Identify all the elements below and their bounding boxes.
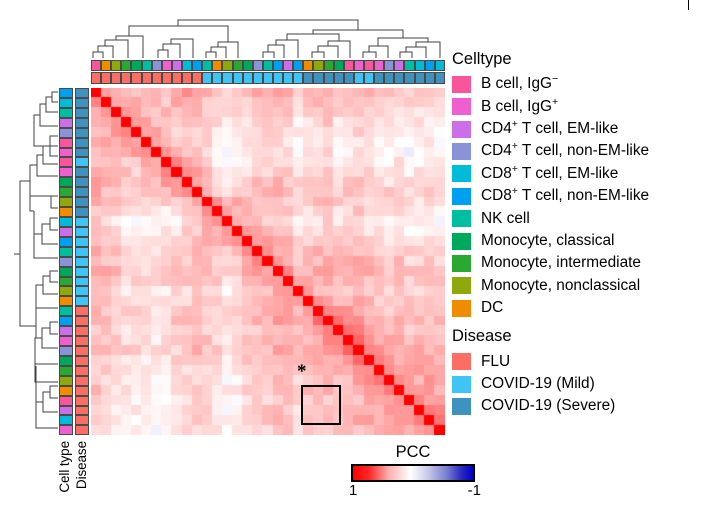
- annotation-cell: [303, 60, 313, 71]
- row-axis-title: Cell type: [57, 441, 72, 493]
- row-dendrogram: [10, 86, 58, 436]
- annotation-cell: [131, 72, 141, 84]
- annotation-cell: [75, 167, 89, 177]
- annotation-cell: [172, 60, 182, 71]
- annotation-cell: [202, 72, 212, 84]
- legend-item-celltype[interactable]: Monocyte, nonclassical: [452, 275, 702, 297]
- legend-swatch-icon: [452, 300, 471, 317]
- legend-swatch-icon: [452, 277, 471, 294]
- annotation-cell: [293, 60, 303, 71]
- legend-item-label: COVID-19 (Mild): [481, 376, 595, 392]
- row-annotation-celltype: [59, 88, 73, 435]
- annotation-cell: [59, 415, 73, 425]
- annotation-cell: [243, 72, 253, 84]
- legend-item-label: CD8+ T cell, non-EM-like: [481, 188, 649, 204]
- annotation-cell: [75, 138, 89, 148]
- legend-swatch-icon: [452, 165, 471, 182]
- legend-item-celltype[interactable]: CD4+ T cell, EM-like: [452, 118, 702, 140]
- annotation-cell: [263, 72, 273, 84]
- annotation-cell: [303, 72, 313, 84]
- annotation-cell: [324, 72, 334, 84]
- annotation-cell: [75, 98, 89, 108]
- annotation-cell: [59, 425, 73, 435]
- legend-swatch-icon: [452, 210, 471, 227]
- annotation-cell: [75, 227, 89, 237]
- annotation-cell: [91, 60, 101, 71]
- annotation-cell: [101, 60, 111, 71]
- annotation-cell: [59, 296, 73, 306]
- annotation-cell: [162, 60, 172, 71]
- annotation-cell: [59, 108, 73, 118]
- annotation-cell: [59, 396, 73, 406]
- legend-disease-title: Disease: [452, 327, 702, 345]
- annotation-cell: [425, 72, 435, 84]
- column-annotation-disease: [91, 72, 445, 84]
- annotation-cell: [75, 376, 89, 386]
- annotation-cell: [75, 197, 89, 207]
- legend-item-celltype[interactable]: CD4+ T cell, non-EM-like: [452, 140, 702, 162]
- legend-swatch-icon: [452, 188, 471, 205]
- annotation-cell: [152, 72, 162, 84]
- legend-item-label: COVID-19 (Severe): [481, 398, 615, 414]
- legend-item-label: DC: [481, 300, 503, 316]
- legend-swatch-icon: [452, 76, 471, 93]
- annotation-cell: [59, 207, 73, 217]
- annotation-cell: [101, 72, 111, 84]
- highlight-box: [301, 385, 341, 425]
- annotation-cell: [222, 60, 232, 71]
- annotation-cell: [344, 60, 354, 71]
- annotation-cell: [75, 88, 89, 98]
- annotation-cell: [172, 72, 182, 84]
- annotation-cell: [75, 177, 89, 187]
- legend-item-label: NK cell: [481, 211, 530, 227]
- pcc-title: PCC: [353, 443, 473, 462]
- column-dendrogram: [88, 12, 448, 58]
- annotation-cell: [75, 425, 89, 435]
- annotation-cell: [415, 60, 425, 71]
- annotation-cell: [253, 60, 263, 71]
- row-annotation-disease: [75, 88, 89, 435]
- legend-swatch-icon: [452, 143, 471, 160]
- annotation-cell: [131, 60, 141, 71]
- annotation-cell: [394, 60, 404, 71]
- annotation-cell: [59, 286, 73, 296]
- annotation-cell: [192, 60, 202, 71]
- annotation-cell: [75, 257, 89, 267]
- annotation-cell: [75, 247, 89, 257]
- annotation-cell: [253, 72, 263, 84]
- annotation-cell: [384, 60, 394, 71]
- pcc-ticks: 1 -1: [347, 482, 483, 499]
- annotation-cell: [59, 217, 73, 227]
- annotation-cell: [404, 60, 414, 71]
- annotation-cell: [142, 60, 152, 71]
- annotation-cell: [75, 396, 89, 406]
- legend-item-label: Monocyte, intermediate: [481, 255, 641, 271]
- annotation-cell: [182, 72, 192, 84]
- annotation-cell: [283, 72, 293, 84]
- legend-item-celltype[interactable]: B cell, IgG+: [452, 96, 702, 118]
- annotation-cell: [344, 72, 354, 84]
- correlation-heatmap: [91, 88, 445, 435]
- annotation-cell: [59, 138, 73, 148]
- annotation-cell: [283, 60, 293, 71]
- annotation-cell: [75, 108, 89, 118]
- annotation-cell: [212, 72, 222, 84]
- annotation-cell: [324, 60, 334, 71]
- annotation-cell: [75, 406, 89, 416]
- legend-item-celltype[interactable]: CD8+ T cell, non-EM-like: [452, 185, 702, 207]
- annotation-cell: [142, 72, 152, 84]
- pcc-colorbar: [351, 464, 475, 482]
- legend-swatch-icon: [452, 353, 471, 370]
- annotation-cell: [75, 356, 89, 366]
- annotation-cell: [263, 60, 273, 71]
- legend-celltype-items: B cell, IgG−B cell, IgG+CD4+ T cell, EM-…: [452, 73, 702, 319]
- annotation-cell: [59, 148, 73, 158]
- annotation-cell: [415, 72, 425, 84]
- annotation-cell: [75, 187, 89, 197]
- annotation-cell: [59, 366, 73, 376]
- annotation-cell: [233, 60, 243, 71]
- annotation-cell: [364, 72, 374, 84]
- annotation-cell: [75, 296, 89, 306]
- annotation-cell: [59, 356, 73, 366]
- annotation-cell: [75, 277, 89, 287]
- annotation-cell: [75, 386, 89, 396]
- legend-disease-items: FLUCOVID-19 (Mild)COVID-19 (Severe): [452, 351, 702, 418]
- annotation-cell: [59, 118, 73, 128]
- annotation-cell: [202, 60, 212, 71]
- annotation-cell: [59, 88, 73, 98]
- annotation-cell: [111, 72, 121, 84]
- legend-item-celltype[interactable]: B cell, IgG−: [452, 73, 702, 95]
- annotation-cell: [75, 148, 89, 158]
- asterisk-marker: *: [297, 362, 307, 381]
- legend-swatch-icon: [452, 98, 471, 115]
- legend-item-label: B cell, IgG−: [481, 76, 558, 92]
- annotation-cell: [59, 177, 73, 187]
- annotation-cell: [334, 72, 344, 84]
- annotation-cell: [364, 60, 374, 71]
- annotation-cell: [222, 72, 232, 84]
- annotation-cell: [59, 346, 73, 356]
- annotation-cell: [59, 128, 73, 138]
- annotation-cell: [425, 60, 435, 71]
- annotation-cell: [59, 267, 73, 277]
- legend-item-celltype[interactable]: Monocyte, intermediate: [452, 252, 702, 274]
- legend-swatch-icon: [452, 398, 471, 415]
- figure-root: Cell type Disease * Celltype B cell, IgG…: [0, 0, 702, 515]
- annotation-cell: [243, 60, 253, 71]
- annotation-cell: [75, 316, 89, 326]
- annotation-cell: [182, 60, 192, 71]
- legend-item-label: CD8+ T cell, EM-like: [481, 166, 618, 182]
- annotation-cell: [313, 72, 323, 84]
- annotation-cell: [233, 72, 243, 84]
- annotation-cell: [59, 157, 73, 167]
- annotation-cell: [59, 386, 73, 396]
- annotation-cell: [435, 72, 445, 84]
- column-axis-title: Disease: [74, 441, 89, 489]
- legend-swatch-icon: [452, 376, 471, 393]
- annotation-cell: [75, 267, 89, 277]
- column-annotation-celltype: [91, 60, 445, 71]
- annotation-cell: [59, 306, 73, 316]
- legend-item-celltype[interactable]: DC: [452, 297, 702, 319]
- annotation-cell: [59, 98, 73, 108]
- annotation-cell: [59, 376, 73, 386]
- annotation-cell: [75, 118, 89, 128]
- annotation-cell: [354, 60, 364, 71]
- legend-item-celltype[interactable]: Monocyte, classical: [452, 230, 702, 252]
- legend-swatch-icon: [452, 233, 471, 250]
- legend-celltype-title: Celltype: [452, 50, 702, 68]
- annotation-cell: [121, 72, 131, 84]
- legend-swatch-icon: [452, 255, 471, 272]
- annotation-cell: [75, 217, 89, 227]
- legend-item-disease[interactable]: FLU: [452, 351, 702, 373]
- annotation-cell: [59, 187, 73, 197]
- annotation-cell: [212, 60, 222, 71]
- legend-item-label: FLU: [481, 354, 510, 370]
- annotation-cell: [59, 237, 73, 247]
- annotation-cell: [59, 247, 73, 257]
- annotation-cell: [273, 72, 283, 84]
- annotation-cell: [354, 72, 364, 84]
- annotation-cell: [75, 237, 89, 247]
- annotation-cell: [75, 415, 89, 425]
- pcc-tick-min: -1: [468, 482, 481, 499]
- annotation-cell: [334, 60, 344, 71]
- annotation-cell: [374, 60, 384, 71]
- corner-tick-mark: [688, 0, 689, 10]
- annotation-cell: [384, 72, 394, 84]
- annotation-cell: [75, 346, 89, 356]
- annotation-cell: [162, 72, 172, 84]
- annotation-cell: [111, 60, 121, 71]
- annotation-cell: [91, 72, 101, 84]
- annotation-cell: [152, 60, 162, 71]
- annotation-cell: [59, 167, 73, 177]
- legend-item-celltype[interactable]: CD8+ T cell, EM-like: [452, 163, 702, 185]
- legend-swatch-icon: [452, 121, 471, 138]
- annotation-cell: [59, 277, 73, 287]
- annotation-cell: [59, 336, 73, 346]
- annotation-cell: [59, 316, 73, 326]
- annotation-cell: [75, 336, 89, 346]
- annotation-cell: [59, 197, 73, 207]
- legend-item-label: CD4+ T cell, non-EM-like: [481, 143, 649, 159]
- annotation-cell: [313, 60, 323, 71]
- legend-item-label: Monocyte, classical: [481, 233, 614, 249]
- annotation-cell: [404, 72, 414, 84]
- legend-item-label: Monocyte, nonclassical: [481, 278, 640, 294]
- annotation-cell: [394, 72, 404, 84]
- annotation-cell: [121, 60, 131, 71]
- legend-panel: Celltype B cell, IgG−B cell, IgG+CD4+ T …: [452, 50, 702, 418]
- legend-item-celltype[interactable]: NK cell: [452, 207, 702, 229]
- annotation-cell: [75, 286, 89, 296]
- annotation-cell: [75, 366, 89, 376]
- annotation-cell: [75, 157, 89, 167]
- annotation-cell: [435, 60, 445, 71]
- annotation-cell: [59, 406, 73, 416]
- legend-item-disease[interactable]: COVID-19 (Mild): [452, 373, 702, 395]
- annotation-cell: [59, 257, 73, 267]
- annotation-cell: [273, 60, 283, 71]
- annotation-cell: [75, 128, 89, 138]
- legend-item-label: CD4+ T cell, EM-like: [481, 121, 618, 137]
- annotation-cell: [192, 72, 202, 84]
- annotation-cell: [75, 207, 89, 217]
- annotation-cell: [59, 326, 73, 336]
- pcc-tick-max: 1: [349, 482, 357, 499]
- legend-item-disease[interactable]: COVID-19 (Severe): [452, 395, 702, 417]
- annotation-cell: [374, 72, 384, 84]
- annotation-cell: [75, 306, 89, 316]
- legend-item-label: B cell, IgG+: [481, 99, 558, 115]
- pcc-colorbar-legend: PCC 1 -1: [345, 443, 485, 499]
- annotation-cell: [59, 227, 73, 237]
- annotation-cell: [293, 72, 303, 84]
- annotation-cell: [75, 326, 89, 336]
